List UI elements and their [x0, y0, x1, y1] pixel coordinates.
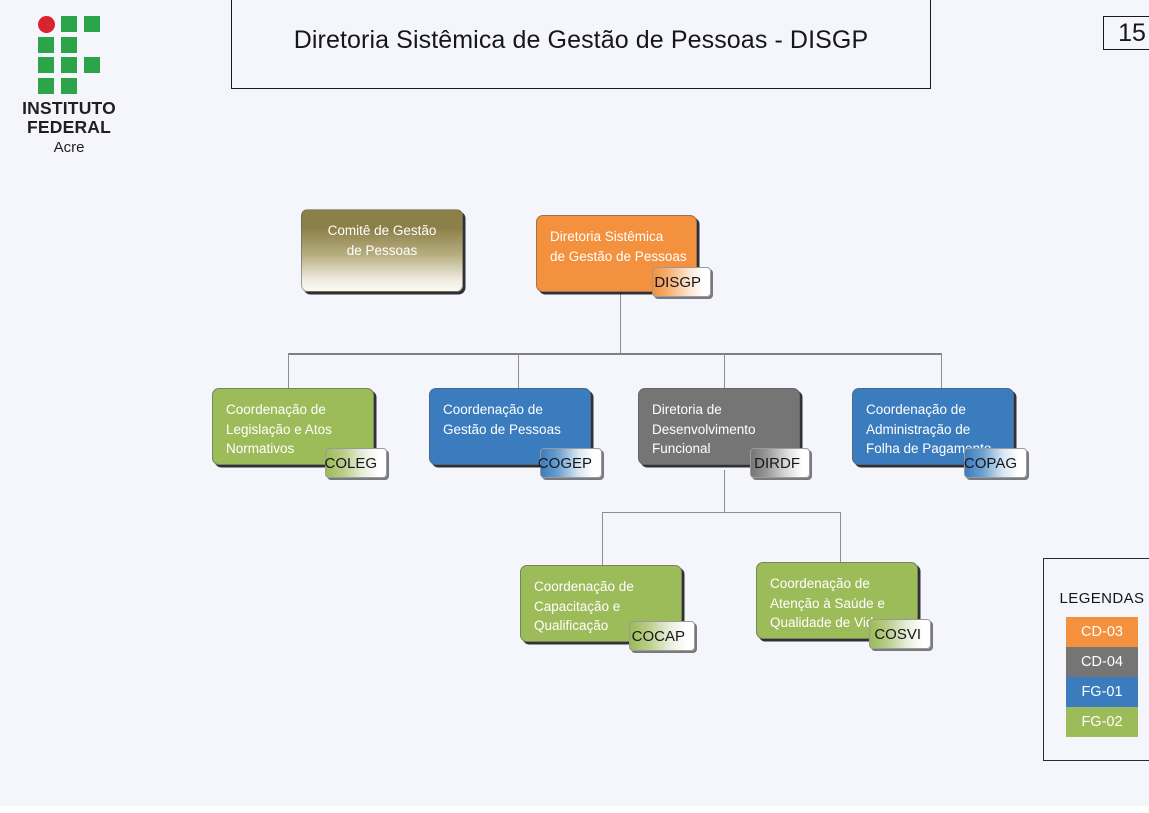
page-number-box: 15	[1103, 16, 1149, 50]
connector-disgp-trunk	[620, 292, 621, 354]
org-node-comite-label: Comitê de Gestão de Pessoas	[301, 209, 463, 260]
org-node-comite[interactable]: Comitê de Gestão de Pessoas	[301, 209, 463, 292]
org-node-cocap-acronym-tag: COCAP	[629, 621, 695, 651]
connector-drop-cosvi	[840, 512, 841, 565]
legend-item-cd-03: CD-03	[1066, 617, 1138, 647]
org-node-cosvi-acronym-tag: COSVI	[869, 619, 931, 649]
logo-text-federal: FEDERAL	[10, 118, 128, 137]
logo-square-icon	[84, 57, 100, 73]
logo-square-icon	[61, 16, 77, 32]
legend-panel: LEGENDAS CD-03 CD-04 FG-01 FG-02	[1043, 558, 1149, 761]
org-node-cogep-acronym-tag: COGEP	[540, 448, 602, 478]
logo-square-icon	[61, 57, 77, 73]
org-node-disgp-label: Diretoria Sistêmica de Gestão de Pessoas	[536, 215, 697, 266]
org-node-coleg-acronym-tag: COLEG	[325, 448, 387, 478]
connector-level2-bus	[288, 353, 942, 355]
legend-item-label: CD-04	[1081, 654, 1123, 670]
logo-square-icon	[38, 37, 54, 53]
org-node-copag-acronym-tag: COPAG	[964, 448, 1027, 478]
slide-title: Diretoria Sistêmica de Gestão de Pessoas…	[294, 26, 868, 55]
connector-dirdf-trunk	[724, 470, 725, 513]
connector-drop-cogep	[518, 353, 519, 388]
legend-item-label: FG-02	[1081, 714, 1122, 730]
org-node-dirdf-acronym-tag: DIRDF	[750, 448, 810, 478]
logo-mark-grid	[38, 16, 100, 94]
legend-item-cd-04: CD-04	[1066, 647, 1138, 677]
logo-text-acre: Acre	[10, 138, 128, 157]
bottom-strip	[0, 806, 1149, 813]
instituto-federal-logo: INSTITUTO FEDERAL Acre	[10, 8, 128, 158]
logo-square-icon	[38, 78, 54, 94]
connector-drop-dirdf	[724, 353, 725, 388]
logo-square-icon	[84, 16, 100, 32]
page-number: 15	[1118, 19, 1146, 48]
legend-item-fg-01: FG-01	[1066, 677, 1138, 707]
connector-drop-coleg	[288, 353, 289, 388]
legend-item-list: CD-03 CD-04 FG-01 FG-02	[1044, 617, 1149, 737]
legend-item-label: FG-01	[1081, 684, 1122, 700]
logo-red-dot-icon	[38, 16, 55, 33]
logo-square-icon	[61, 78, 77, 94]
connector-level3-bus	[602, 512, 841, 513]
org-node-cogep-label: Coordenação de Gestão de Pessoas	[429, 388, 591, 439]
legend-title: LEGENDAS	[1044, 590, 1149, 607]
legend-item-fg-02: FG-02	[1066, 707, 1138, 737]
legend-item-label: CD-03	[1081, 624, 1123, 640]
logo-square-icon	[61, 37, 77, 53]
logo-square-icon	[38, 57, 54, 73]
org-node-disgp-acronym-tag: DISGP	[652, 267, 711, 297]
slide-title-box: Diretoria Sistêmica de Gestão de Pessoas…	[231, 0, 931, 89]
logo-text-instituto: INSTITUTO	[10, 99, 128, 118]
connector-drop-cocap	[602, 512, 603, 565]
slide-canvas: INSTITUTO FEDERAL Acre Diretoria Sistêmi…	[0, 0, 1149, 813]
connector-drop-copag	[941, 353, 942, 388]
